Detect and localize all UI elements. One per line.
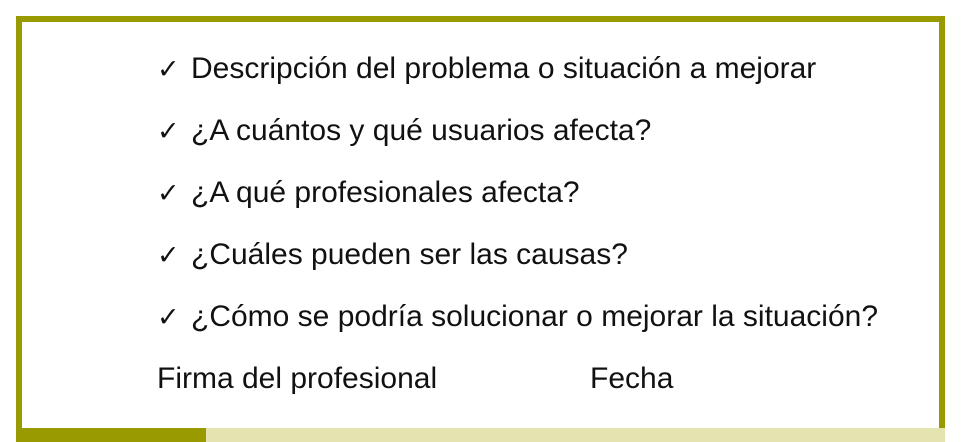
signature-label: Firma del profesional — [157, 348, 590, 410]
list-item-label: ¿Cuáles pueden ser las causas? — [191, 224, 628, 286]
list-item: ✓ Descripción del problema o situación a… — [157, 38, 917, 100]
list-item-label: Descripción del problema o situación a m… — [191, 38, 816, 100]
signature-row: Firma del profesional Fecha — [157, 348, 917, 410]
slide-canvas: ✓ Descripción del problema o situación a… — [0, 0, 964, 442]
checklist-content: ✓ Descripción del problema o situación a… — [157, 38, 917, 410]
check-icon: ✓ — [157, 287, 191, 349]
list-item-label: ¿A cuántos y qué usuarios afecta? — [191, 100, 651, 162]
footer-bar-light — [206, 428, 945, 442]
date-label: Fecha — [590, 348, 673, 410]
footer-bar-dark — [16, 428, 206, 442]
frame-left-border — [16, 16, 22, 428]
frame-right-border — [939, 16, 945, 428]
list-item-label: ¿Cómo se podría solucionar o mejorar la … — [191, 286, 878, 348]
frame-top-border — [16, 16, 945, 22]
check-icon: ✓ — [157, 101, 191, 163]
check-icon: ✓ — [157, 163, 191, 225]
list-item-label: ¿A qué profesionales afecta? — [191, 162, 580, 224]
list-item: ✓ ¿A qué profesionales afecta? — [157, 162, 917, 224]
check-icon: ✓ — [157, 225, 191, 287]
list-item: ✓ ¿A cuántos y qué usuarios afecta? — [157, 100, 917, 162]
list-item: ✓ ¿Cómo se podría solucionar o mejorar l… — [157, 286, 917, 348]
check-icon: ✓ — [157, 39, 191, 101]
list-item: ✓ ¿Cuáles pueden ser las causas? — [157, 224, 917, 286]
